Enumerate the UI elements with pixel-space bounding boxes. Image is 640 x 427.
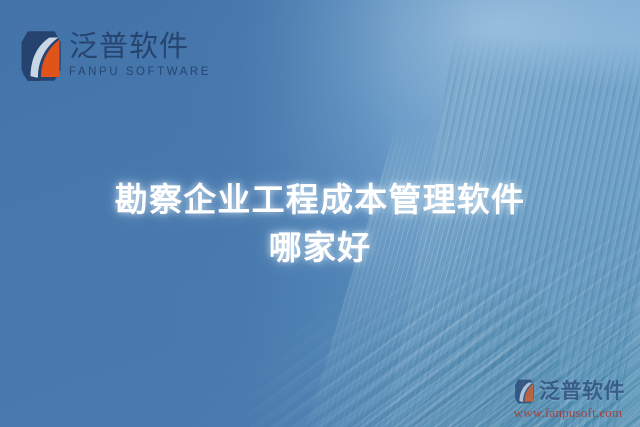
fanpu-hexagon-logo-icon [14, 30, 62, 82]
fanpu-hexagon-logo-icon [511, 379, 535, 404]
page-title: 勘察企业工程成本管理软件 哪家好 [0, 176, 640, 272]
brand-logo[interactable]: 泛普软件 FANPU SOFTWARE [14, 30, 211, 82]
watermark-logo-row: 泛普软件 [502, 379, 634, 404]
watermark-url: www.fanpusoft.com [502, 406, 634, 420]
brand-name-en: FANPU SOFTWARE [69, 66, 211, 79]
promo-banner: 泛普软件 FANPU SOFTWARE 勘察企业工程成本管理软件 哪家好 泛普软… [0, 0, 640, 427]
brand-name-cn: 泛普软件 [69, 33, 211, 63]
watermark: 泛普软件 www.fanpusoft.com [502, 379, 634, 420]
watermark-brand-name: 泛普软件 [539, 381, 625, 402]
brand-wordmark: 泛普软件 FANPU SOFTWARE [69, 33, 211, 79]
